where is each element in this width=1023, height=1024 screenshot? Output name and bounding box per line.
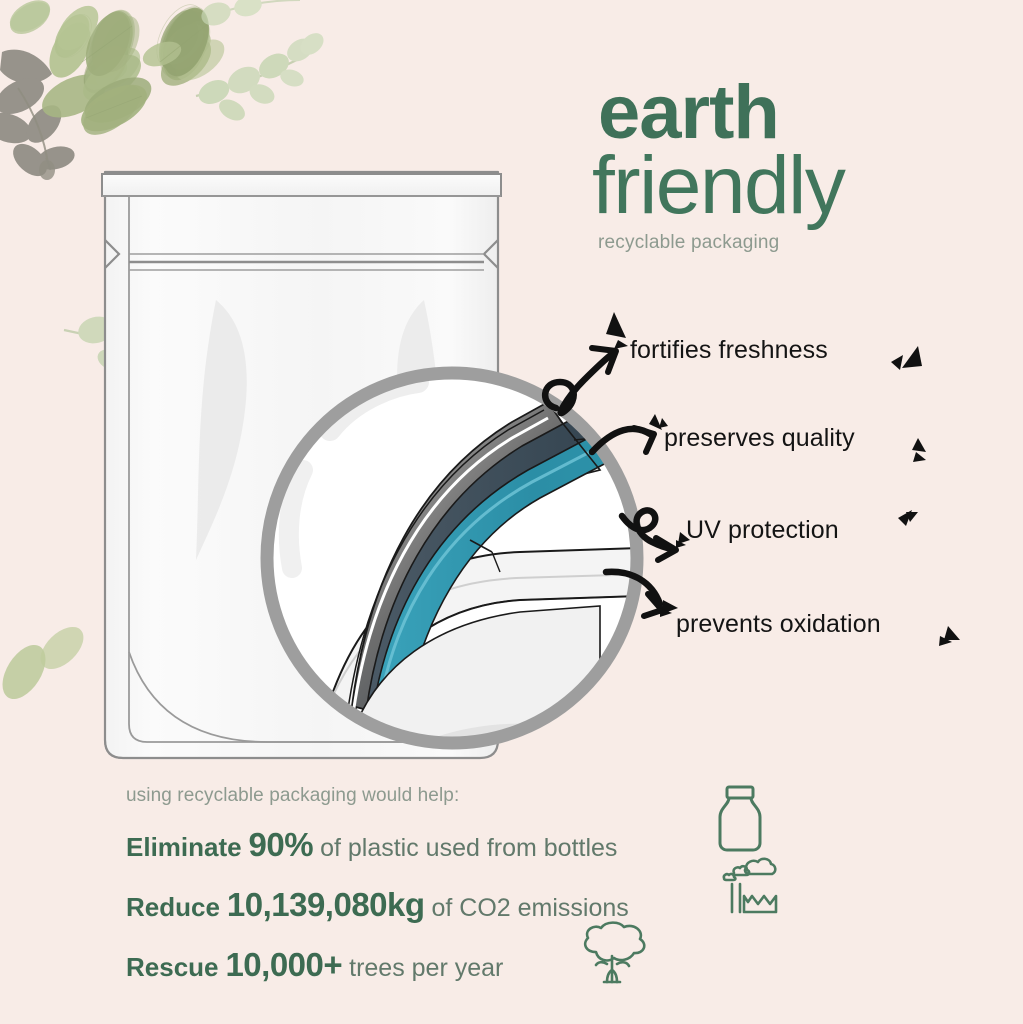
headline-block: earth friendly recyclable packaging	[592, 78, 1012, 254]
infographic-canvas: earth friendly recyclable packaging fort…	[0, 0, 1023, 1024]
sparkle-icon	[944, 626, 960, 640]
stats-intro: using recyclable packaging would help:	[126, 785, 459, 807]
stat-number: 10,139,080kg	[227, 886, 425, 923]
curved-down-arrow-icon	[606, 572, 662, 616]
stat-row-rescue: Rescue 10,000+ trees per year	[126, 946, 503, 984]
stat-rest: trees per year	[349, 954, 503, 982]
stat-rest: of plastic used from bottles	[320, 834, 617, 862]
feature-label-fortifies-freshness: fortifies freshness	[630, 336, 828, 365]
stat-row-reduce: Reduce 10,139,080kg of CO2 emissions	[126, 886, 629, 924]
looped-arrow-icon	[622, 510, 676, 560]
stat-row-eliminate: Eliminate 90% of plastic used from bottl…	[126, 826, 617, 864]
sparkle-icon	[913, 452, 926, 462]
feature-label-uv-protection: UV protection	[686, 516, 839, 545]
headline-line1: earth	[592, 78, 1012, 148]
bottle-icon	[713, 784, 767, 854]
sparkle-icon	[606, 312, 626, 338]
sparkle-icon	[614, 340, 628, 349]
curved-arrow-icon	[592, 428, 654, 452]
stat-verb: Eliminate	[126, 832, 242, 862]
sparkle-icon	[891, 355, 903, 370]
stat-verb: Reduce	[126, 892, 220, 922]
curly-loop-arrow-icon	[545, 348, 616, 413]
stat-number: 10,000+	[225, 946, 342, 983]
sparkle-icon	[912, 438, 926, 452]
sparkle-icon	[902, 346, 922, 368]
stat-rest: of CO2 emissions	[432, 894, 629, 922]
headline-subtitle: recyclable packaging	[592, 232, 1012, 254]
stat-number: 90%	[249, 826, 314, 863]
feature-label-prevents-oxidation: prevents oxidation	[676, 610, 881, 639]
tree-icon	[574, 920, 652, 988]
feature-label-preserves-quality: preserves quality	[664, 424, 855, 453]
factory-smoke-icon	[720, 854, 780, 916]
headline-line2: friendly	[592, 146, 1012, 226]
stat-verb: Rescue	[126, 952, 219, 982]
